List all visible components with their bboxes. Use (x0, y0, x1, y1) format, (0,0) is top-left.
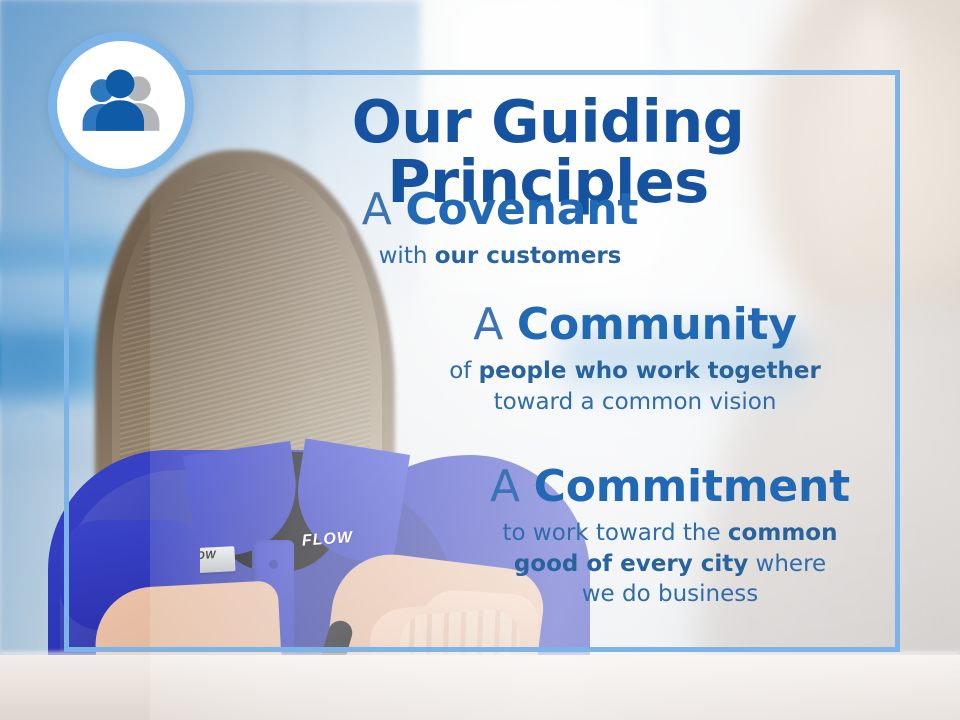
principle-subtext: of people who work together toward a com… (390, 356, 880, 417)
subtext-line2: toward a common vision (494, 389, 777, 415)
principle-keyword: Covenant (405, 184, 638, 235)
principle-community: A Community of people who work together … (390, 300, 880, 417)
principle-lead: A (362, 184, 406, 235)
principle-heading: A Commitment (440, 462, 900, 511)
principle-lead: A (473, 299, 517, 350)
principle-subtext: with our customers (300, 241, 700, 271)
subtext-line3: we do business (582, 581, 759, 607)
principle-covenant: A Covenant with our customers (300, 185, 700, 272)
principle-keyword: Commitment (534, 461, 850, 512)
principle-keyword: Community (517, 299, 797, 350)
principle-commitment: A Commitment to work toward the common g… (440, 462, 900, 609)
principle-lead: A (490, 461, 534, 512)
subtext-line1-bold: common (728, 520, 838, 546)
text-overlay: Our Guiding Principles A Covenant with o… (0, 0, 960, 720)
subtext-line2-plain: where (748, 551, 826, 577)
subtext-part-plain: with (379, 243, 435, 269)
principle-heading: A Community (390, 300, 880, 349)
principle-heading: A Covenant (300, 185, 700, 234)
subtext-line1-plain: to work toward the (503, 520, 728, 546)
subtext-part-bold: our customers (435, 243, 622, 269)
subtext-line1-bold: people who work together (479, 358, 821, 384)
principle-subtext: to work toward the common good of every … (440, 518, 900, 609)
subtext-line2-bold: good of every city (514, 551, 748, 577)
subtext-line1-plain: of (449, 358, 478, 384)
